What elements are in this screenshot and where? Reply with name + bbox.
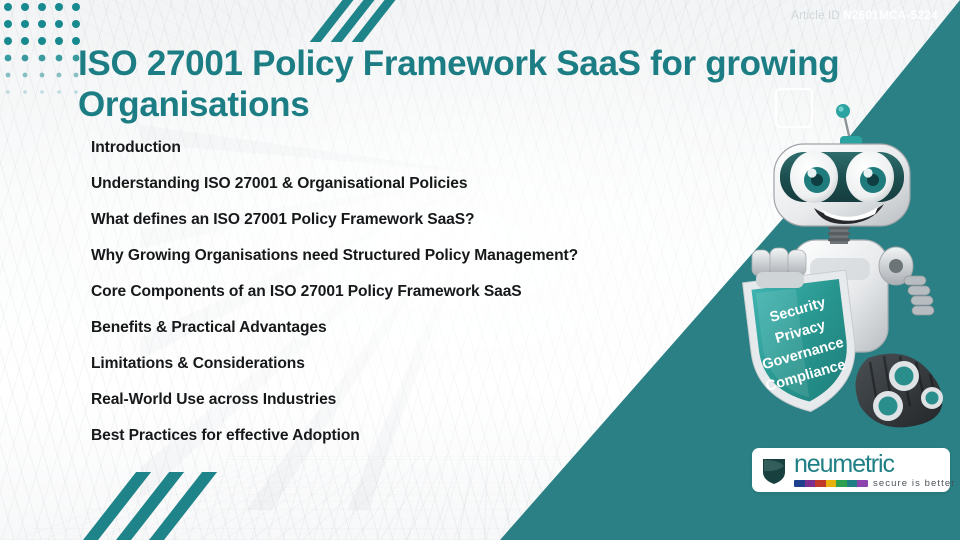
table-of-contents: IntroductionUnderstanding ISO 27001 & Or…: [91, 137, 731, 461]
decorative-dot: [6, 73, 11, 78]
logo-wordmark: neumetric: [794, 452, 956, 476]
decorative-dot: [4, 37, 12, 45]
rainbow-segment: [805, 480, 816, 487]
decorative-dot: [5, 55, 12, 62]
decorative-dot-grid: [4, 3, 80, 105]
decorative-dot: [55, 3, 63, 11]
toc-item[interactable]: Benefits & Practical Advantages: [91, 317, 731, 353]
logo-tagline: secure is better: [873, 478, 956, 489]
logo-rainbow-bar: [794, 480, 868, 487]
rainbow-segment: [794, 480, 805, 487]
logo-shield-icon: [759, 453, 789, 487]
decorative-dot: [21, 37, 29, 45]
decorative-dot: [38, 37, 46, 45]
neumetric-logo[interactable]: neumetric secure is better: [752, 448, 950, 492]
robot-mascot: SecurityPrivacyGovernanceCompliance: [718, 100, 960, 440]
toc-item[interactable]: Best Practices for effective Adoption: [91, 425, 731, 461]
robot-head: [774, 144, 910, 226]
decorative-dot: [22, 55, 29, 62]
decorative-dot: [57, 73, 62, 78]
decorative-dot: [21, 3, 29, 11]
rainbow-segment: [815, 480, 826, 487]
rainbow-segment: [847, 480, 858, 487]
toc-item[interactable]: What defines an ISO 27001 Policy Framewo…: [91, 209, 731, 245]
rainbow-segment: [836, 480, 847, 487]
robot-shield: SecurityPrivacyGovernanceCompliance: [743, 270, 863, 418]
robot-wheel: [856, 354, 944, 428]
decorative-dot: [23, 90, 27, 94]
decorative-dot: [38, 20, 46, 28]
decorative-dot: [21, 20, 29, 28]
decorative-dot: [39, 55, 46, 62]
decorative-dot: [4, 3, 12, 11]
decorative-dot: [72, 3, 80, 11]
decorative-dot: [55, 37, 63, 45]
toc-item[interactable]: Understanding ISO 27001 & Organisational…: [91, 173, 731, 209]
toc-item[interactable]: Core Components of an ISO 27001 Policy F…: [91, 281, 731, 317]
toc-item[interactable]: Limitations & Considerations: [91, 353, 731, 389]
decorative-dot: [23, 73, 28, 78]
rainbow-segment: [826, 480, 837, 487]
toc-item[interactable]: Real-World Use across Industries: [91, 389, 731, 425]
decorative-dot: [57, 90, 61, 94]
decorative-dot: [40, 73, 45, 78]
toc-item[interactable]: Introduction: [91, 137, 731, 173]
decorative-dot: [56, 55, 63, 62]
decorative-dot: [40, 90, 44, 94]
robot-hand-left: [752, 248, 806, 288]
article-id-value: N2601MCA-5224: [843, 10, 938, 22]
decorative-dot: [72, 20, 80, 28]
decorative-dot: [55, 20, 63, 28]
decorative-dot: [38, 3, 46, 11]
rainbow-segment: [857, 480, 868, 487]
decorative-dot: [6, 90, 10, 94]
robot-eye-right: [846, 151, 894, 203]
decorative-dot: [4, 20, 12, 28]
slide-canvas: Article ID N2601MCA-5224 ISO 27001 Polic…: [0, 0, 960, 540]
robot-eye-left: [790, 151, 838, 203]
article-id-label: Article ID: [791, 10, 840, 22]
toc-item[interactable]: Why Growing Organisations need Structure…: [91, 245, 731, 281]
article-id: Article ID N2601MCA-5224: [791, 10, 938, 22]
